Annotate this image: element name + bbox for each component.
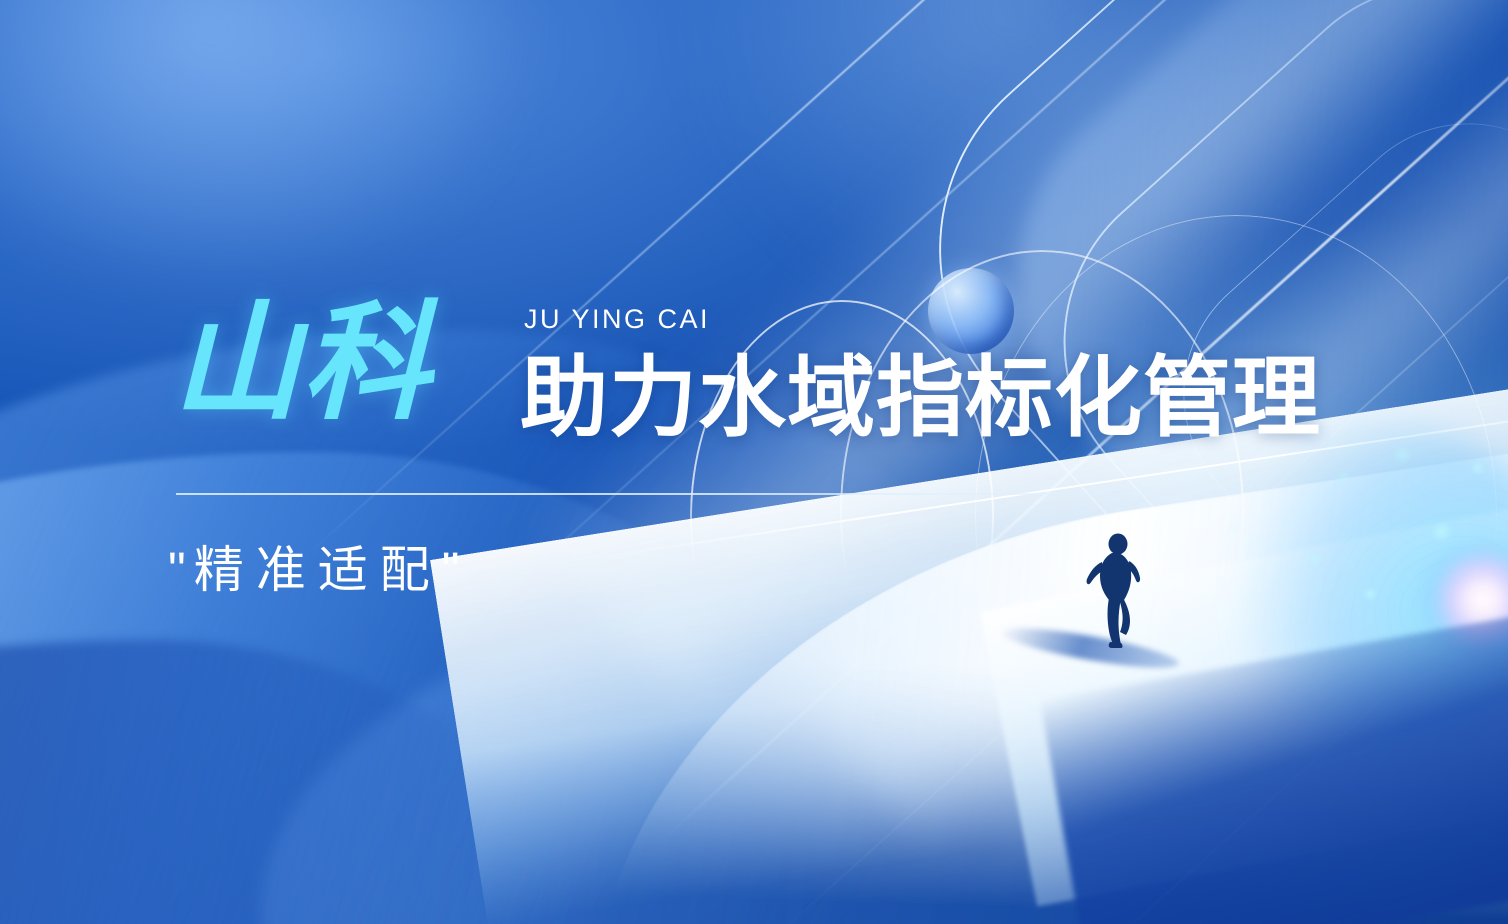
banner-canvas: 山科 JU YING CAI 助力水域指标化管理 "精准适配" [0,0,1508,924]
tagline: "精准适配" [168,543,468,598]
tagline-text: 精准适配 [194,542,442,598]
text-content-block: 山科 JU YING CAI 助力水域指标化管理 "精准适配" [0,0,1508,924]
divider-rule [176,493,1160,495]
page-title: 助力水域指标化管理 [520,352,1321,444]
brand-pinyin-text: JU YING CAI [524,306,710,333]
tagline-close-quote: " [442,542,468,598]
brand-logo-text: 山科 [172,300,432,428]
tagline-open-quote: " [168,542,194,598]
